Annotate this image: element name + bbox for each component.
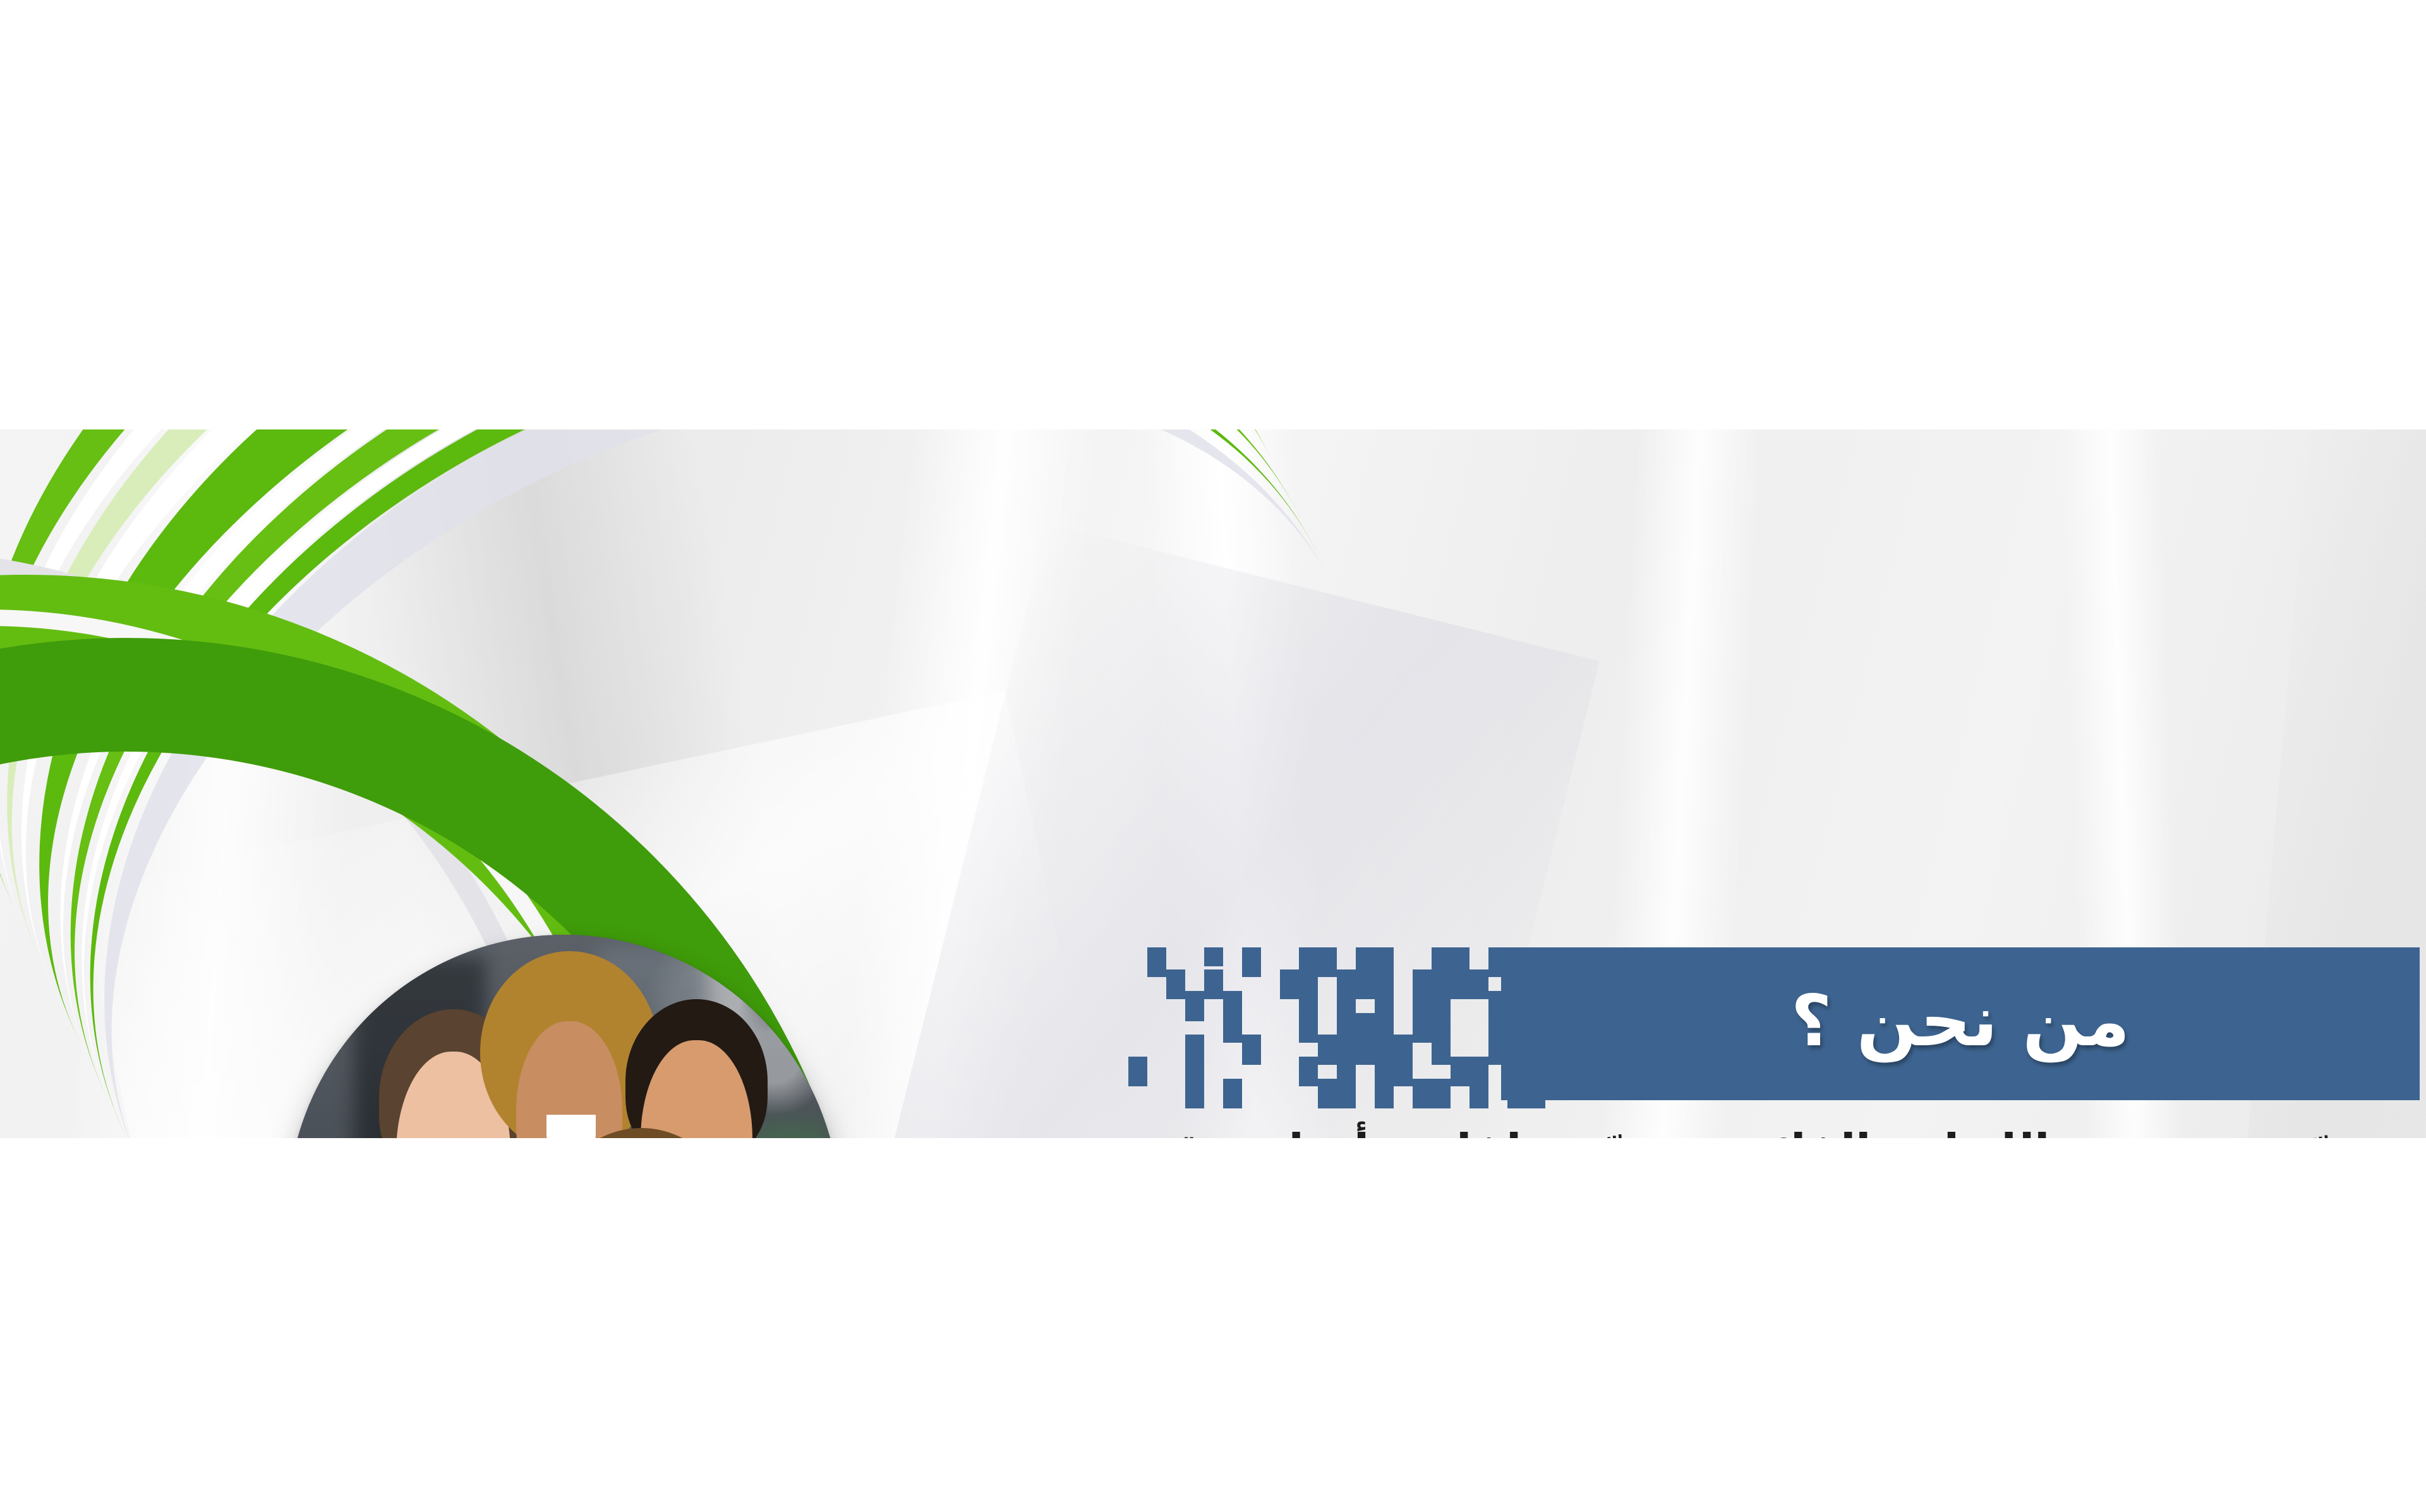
mosaic-pixel bbox=[1356, 1046, 1375, 1065]
mosaic-pixel bbox=[1432, 1046, 1451, 1065]
mosaic-pixel bbox=[1318, 1089, 1337, 1108]
page-root: من نحن ؟ منصّة تجمع بين الإبداع والفائدة… bbox=[0, 0, 2426, 1512]
page-title: من نحن ؟ bbox=[1791, 986, 2130, 1057]
mosaic-pixel bbox=[1356, 980, 1375, 999]
team-photo-sticker bbox=[287, 935, 840, 1138]
pixel-mosaic-icon bbox=[1128, 947, 1520, 1100]
mosaic-pixel bbox=[1185, 1089, 1204, 1108]
mosaic-pixel bbox=[1451, 980, 1469, 999]
mosaic-pixel bbox=[1223, 1024, 1242, 1043]
mosaic-pixel bbox=[1451, 1067, 1469, 1086]
mosaic-pixel bbox=[1413, 1089, 1432, 1108]
about-us-banner: من نحن ؟ منصّة تجمع بين الإبداع والفائدة… bbox=[0, 429, 2426, 1138]
mosaic-pixel bbox=[1318, 958, 1337, 977]
banner-description: منصّة تجمع بين الإبداع والفائدة، نصمّم م… bbox=[1093, 1121, 2394, 1138]
banner-description-line-1: منصّة تجمع بين الإبداع والفائدة، نصمّم م… bbox=[1100, 1124, 2394, 1138]
mosaic-pixel bbox=[1204, 947, 1223, 966]
mosaic-pixel bbox=[1166, 980, 1185, 999]
mosaic-pixel bbox=[1318, 1046, 1337, 1065]
bottom-whitespace bbox=[0, 1138, 2426, 1512]
team-photo-clip bbox=[287, 935, 840, 1138]
mosaic-pixel bbox=[1299, 1067, 1318, 1086]
mosaic-pixel bbox=[1469, 980, 1488, 999]
mosaic-pixel bbox=[1469, 1089, 1488, 1108]
mosaic-pixel bbox=[1394, 1067, 1413, 1086]
banner-copy: منصّة تجمع بين الإبداع والفائدة، نصمّم م… bbox=[1093, 1121, 2394, 1138]
mosaic-pixel bbox=[1223, 1089, 1242, 1108]
mosaic-pixel bbox=[1280, 980, 1299, 999]
mosaic-pixel bbox=[1128, 1067, 1147, 1086]
mosaic-pixel bbox=[1375, 1089, 1394, 1108]
mosaic-pixel bbox=[1432, 1089, 1451, 1108]
photo-person bbox=[619, 1024, 774, 1138]
mosaic-pixel bbox=[1204, 980, 1223, 999]
top-whitespace bbox=[0, 0, 2426, 429]
mosaic-pixel bbox=[1413, 1024, 1432, 1043]
mosaic-pixel bbox=[1185, 1002, 1204, 1021]
section-title-band: من نحن ؟ bbox=[1501, 947, 2420, 1100]
mosaic-pixel bbox=[1242, 1046, 1261, 1065]
mosaic-pixel bbox=[1147, 958, 1166, 977]
mosaic-pixel bbox=[1299, 1024, 1318, 1043]
mosaic-pixel bbox=[1337, 1089, 1356, 1108]
mosaic-pixel bbox=[1242, 958, 1261, 977]
